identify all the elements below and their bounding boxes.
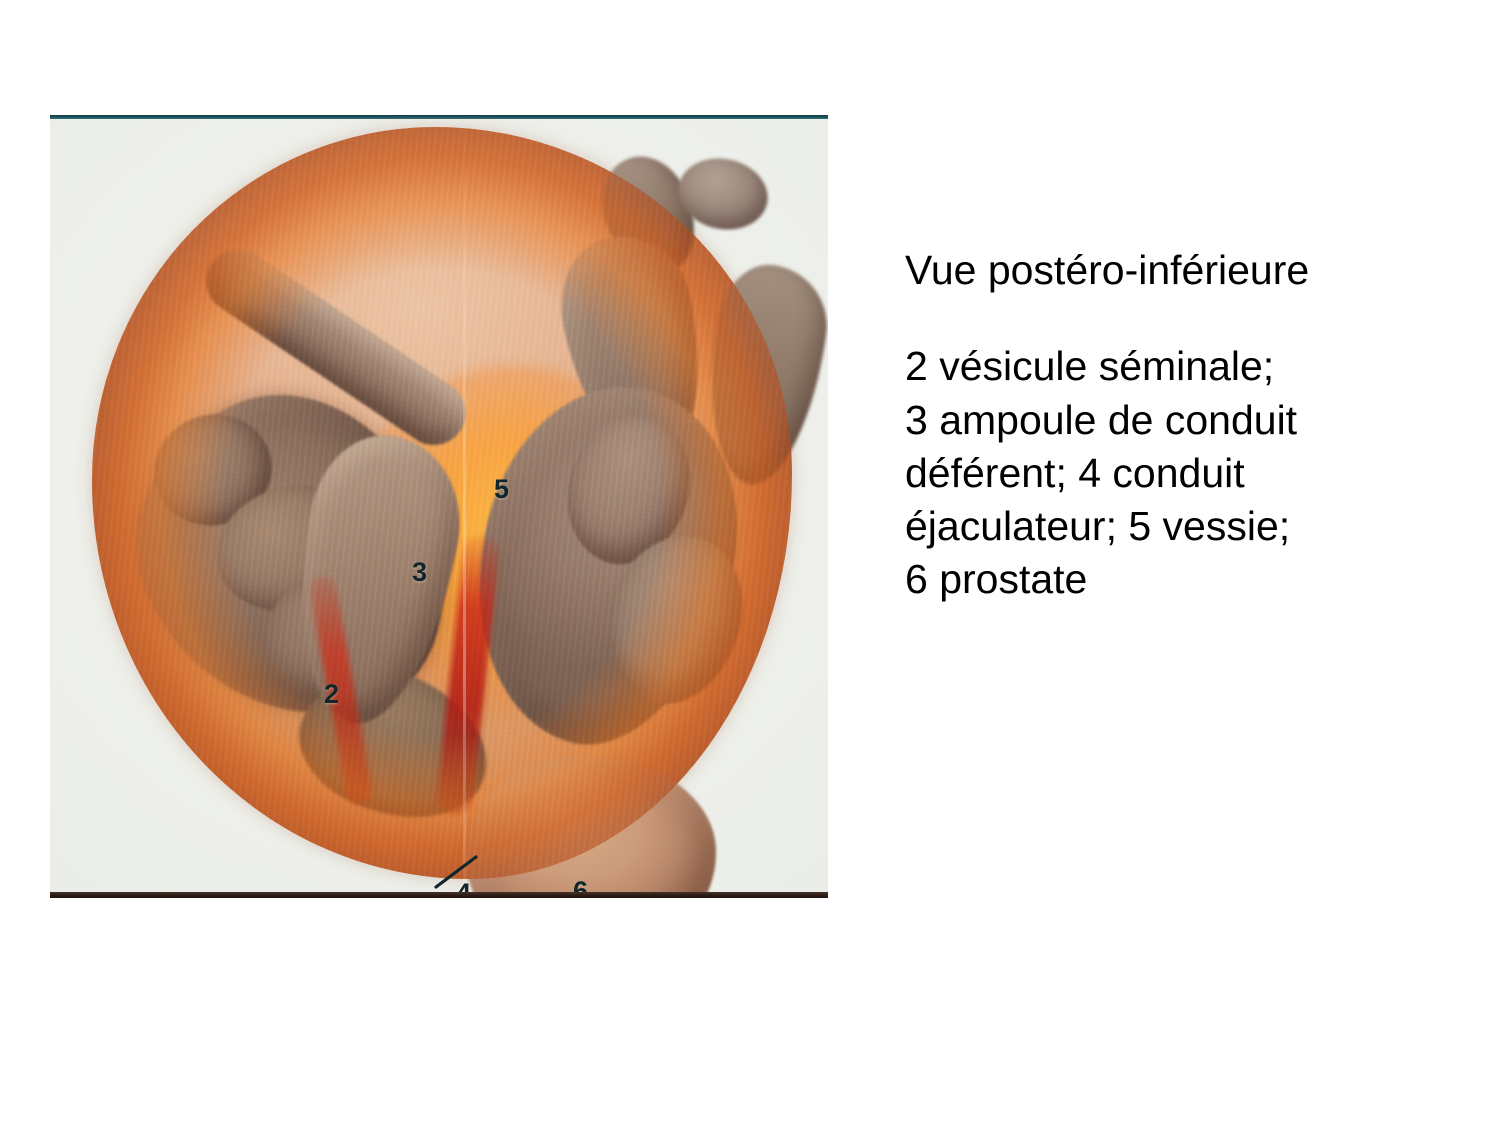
- photo-backdrop: [50, 115, 828, 898]
- caption-line-3: déférent; 4 conduit: [905, 447, 1445, 500]
- photo-bottom-border-line: [50, 892, 828, 898]
- caption-body: 2 vésicule séminale; 3 ampoule de condui…: [905, 340, 1445, 606]
- photo-label-5: 5: [494, 476, 509, 503]
- anatomy-photo: 5 3 2 4 6: [50, 115, 828, 898]
- photo-label-3: 3: [412, 559, 427, 586]
- photo-top-border-line: [50, 115, 828, 119]
- caption-line-4: éjaculateur; 5 vessie;: [905, 500, 1445, 553]
- label-4-leader-line-icon: [428, 853, 480, 893]
- photo-label-2: 2: [324, 681, 339, 708]
- caption-title: Vue postéro-inférieure: [905, 248, 1445, 292]
- caption-line-5: 6 prostate: [905, 553, 1445, 606]
- caption-line-2: 3 ampoule de conduit: [905, 394, 1445, 447]
- caption-block: Vue postéro-inférieure 2 vésicule sémina…: [905, 248, 1445, 607]
- caption-line-1: 2 vésicule séminale;: [905, 340, 1445, 393]
